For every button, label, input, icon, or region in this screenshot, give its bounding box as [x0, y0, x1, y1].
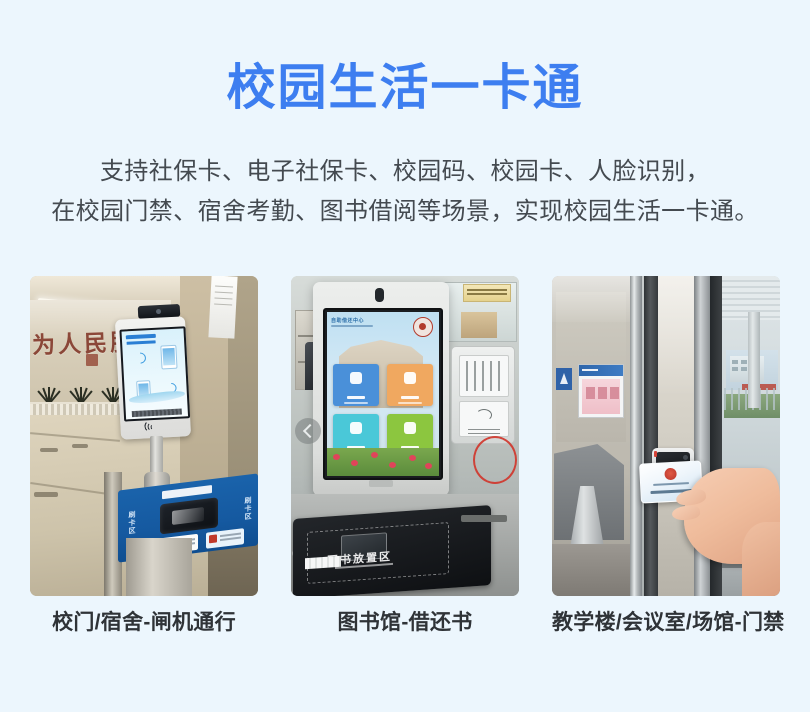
- caption-library: 图书馆-借还书: [291, 606, 519, 640]
- photo1-hanging-paper: [208, 276, 237, 339]
- photo3-door-gap-dark: [644, 276, 658, 596]
- photo1-turnstile-sticker: [206, 528, 244, 549]
- caption-gate: 校门/宿舍-闸机通行: [30, 606, 258, 640]
- photo2-side-panel: [451, 346, 515, 444]
- photo1-floor-slot: [40, 448, 58, 452]
- photo2-screen-heading: 自助借还中心: [331, 317, 364, 324]
- photo2-screen-flowerbed: [327, 448, 439, 476]
- photo2-kiosk-screen[interactable]: 自助借还中心: [323, 308, 443, 480]
- photo1-turnstile-logo: [162, 485, 212, 499]
- photo2-screen-subheading: [331, 325, 373, 327]
- photo3-middle-panel-shine: [658, 276, 694, 396]
- photo3-notice-poster: [578, 364, 624, 418]
- photo1-wall-seal: [86, 354, 98, 366]
- photo3-glass-reflection: [552, 276, 630, 322]
- photo1-floor-slot: [34, 492, 58, 497]
- photo2-screen-tiles: [333, 364, 433, 456]
- photo2-card-reader-plate[interactable]: [459, 401, 509, 437]
- photo2-card-slot: [461, 515, 507, 522]
- photo2-carton: [461, 312, 497, 338]
- promo-page: 校园生活一卡通 支持社保卡、电子社保卡、校园码、校园卡、人脸识别， 在校园门禁、…: [0, 0, 810, 712]
- gallery-card-library[interactable]: 自助借还中心: [291, 276, 519, 596]
- photo3-indoor-floor: [552, 544, 630, 596]
- page-subtitle: 支持社保卡、电子社保卡、校园码、校园卡、人脸识别， 在校园门禁、宿舍考勤、图书借…: [0, 152, 810, 232]
- photo3-blue-wall-sign: [556, 368, 572, 390]
- photo3-reader-status-led: [654, 451, 657, 457]
- photo2-wall-sign: [463, 284, 511, 302]
- photo1-terminal-nfc-icon: [142, 417, 169, 432]
- photo1-screen-nfc-wave: [133, 350, 149, 366]
- photo2-instruction-plate: [459, 355, 509, 397]
- photo-door-access: [552, 276, 780, 596]
- gallery-card-gate[interactable]: 为人民服务: [30, 276, 258, 596]
- photo1-terminal-screen: [119, 326, 190, 421]
- photo3-wrist: [742, 522, 780, 596]
- photo2-kiosk-brand: [369, 480, 393, 487]
- photo1-turnstile-body: [126, 538, 192, 596]
- photo2-kiosk: 自助借还中心: [313, 282, 449, 496]
- photo2-tile-borrow[interactable]: [333, 364, 379, 406]
- photo-campus-gate: 为人民服务: [30, 276, 258, 596]
- photo1-screen-heading: [126, 334, 156, 340]
- caption-door: 教学楼/会议室/场馆-门禁: [552, 606, 780, 640]
- gallery-caption-row: 校门/宿舍-闸机通行 图书馆-借还书 教学楼/会议室/场馆-门禁: [30, 606, 780, 640]
- photo3-card-emblem-icon: [664, 468, 677, 481]
- photo2-screen-content: 自助借还中心: [327, 312, 439, 476]
- photo1-face-terminal: [115, 316, 191, 439]
- photo2-screen-logo-badge: [413, 317, 433, 337]
- photo2-tile-return[interactable]: [387, 364, 433, 406]
- photo2-kiosk-chin: [323, 478, 439, 492]
- photo3-card-text-line: [653, 482, 689, 486]
- photo2-back-arrow-icon[interactable]: [295, 418, 321, 444]
- page-title: 校园生活一卡通: [0, 58, 810, 118]
- photo1-turnstile-label-right: 刷卡区: [242, 496, 252, 521]
- photo1-screen-strip: [132, 409, 182, 418]
- gallery-card-door[interactable]: [552, 276, 780, 596]
- photo3-reader-sensor-dot: [683, 455, 688, 460]
- photo3-outdoor-column: [748, 312, 760, 408]
- photo1-turnstile-scanner[interactable]: [160, 497, 218, 534]
- subtitle-line-2: 在校园门禁、宿舍考勤、图书借阅等场景，实现校园生活一卡通。: [0, 192, 810, 232]
- photo3-poster-body: [582, 379, 620, 414]
- photo1-planters: [36, 372, 128, 404]
- photo2-highlight-circle: [473, 436, 517, 484]
- photo1-turnstile-label-left: 刷卡区: [126, 510, 136, 535]
- gallery-photo-row: 为人民服务: [30, 276, 780, 596]
- subtitle-line-1: 支持社保卡、电子社保卡、校园码、校园卡、人脸识别，: [0, 152, 810, 192]
- photo-library-kiosk: 自助借还中心: [291, 276, 519, 596]
- photo3-poster-header: [579, 365, 623, 376]
- photo2-kiosk-camera: [375, 288, 384, 302]
- photo1-screen-phone-icon: [160, 345, 177, 370]
- photo3-door-frame-inner: [630, 276, 642, 596]
- photo1-floor-slot: [72, 444, 88, 448]
